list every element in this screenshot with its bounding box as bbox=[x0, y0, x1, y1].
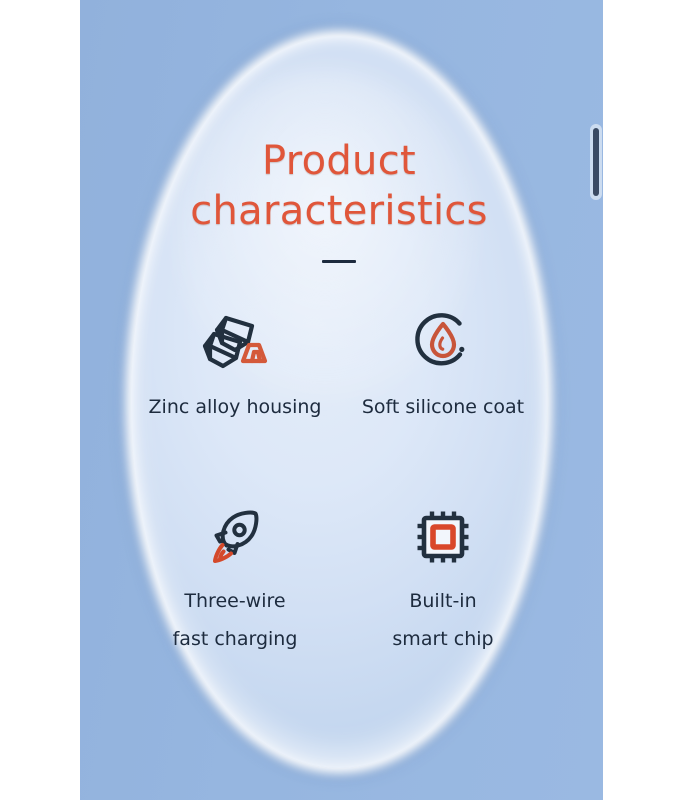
features-grid: Zinc alloy housing bbox=[131, 308, 547, 658]
feature-label: Built-in smart chip bbox=[392, 582, 493, 658]
page-title-line1: Product bbox=[131, 136, 547, 186]
feature-label-line2: smart chip bbox=[392, 620, 493, 658]
feature-label-line1: Three-wire bbox=[184, 590, 285, 612]
feature-label: Three-wire fast charging bbox=[173, 582, 298, 658]
page-title-line2: characteristics bbox=[131, 186, 547, 236]
cpu-chip-icon bbox=[407, 504, 479, 570]
metal-ingots-icon bbox=[199, 308, 271, 374]
promo-banner: Product characteristics bbox=[80, 0, 603, 800]
scrollbar-thumb[interactable] bbox=[593, 128, 599, 196]
capsule-content: Product characteristics bbox=[131, 36, 547, 768]
feature-label-line1: Built-in bbox=[409, 590, 476, 612]
rocket-icon bbox=[199, 504, 271, 570]
feature-soft-silicone-coat[interactable]: Soft silicone coat bbox=[339, 308, 547, 426]
feature-label-line1: Zinc alloy housing bbox=[149, 396, 322, 418]
features-row-bottom: Three-wire fast charging bbox=[131, 504, 547, 658]
feature-three-wire-fast-charging[interactable]: Three-wire fast charging bbox=[131, 504, 339, 658]
title-divider bbox=[322, 260, 356, 263]
page-title: Product characteristics bbox=[131, 136, 547, 236]
product-characteristics-page: Product characteristics bbox=[0, 0, 683, 800]
feature-zinc-alloy-housing[interactable]: Zinc alloy housing bbox=[131, 308, 339, 426]
feature-label: Soft silicone coat bbox=[362, 388, 524, 426]
water-drop-icon bbox=[407, 308, 479, 374]
feature-built-in-smart-chip[interactable]: Built-in smart chip bbox=[339, 504, 547, 658]
feature-label-line1: Soft silicone coat bbox=[362, 396, 524, 418]
feature-label-line2: fast charging bbox=[173, 620, 298, 658]
feature-label: Zinc alloy housing bbox=[149, 388, 322, 426]
features-row-top: Zinc alloy housing bbox=[131, 308, 547, 426]
